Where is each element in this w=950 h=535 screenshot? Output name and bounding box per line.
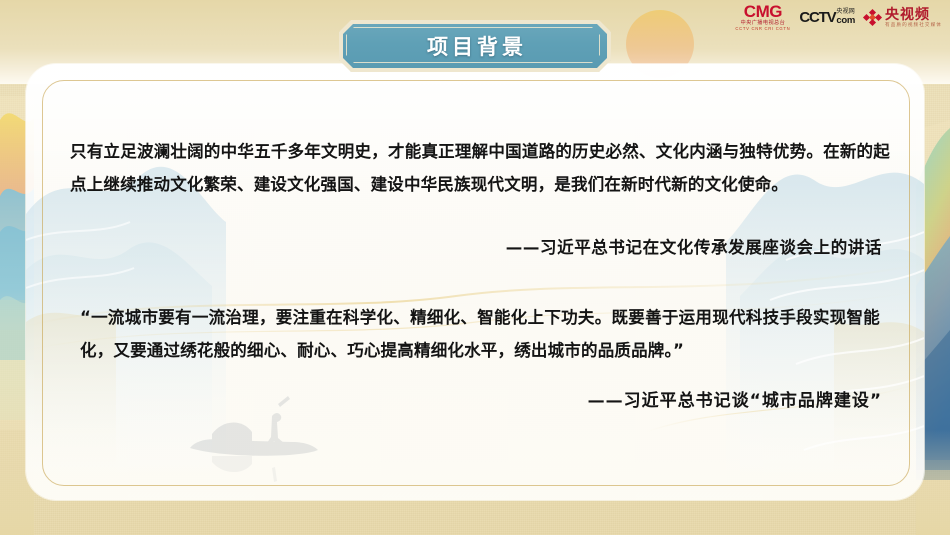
page-title: 项目背景	[339, 20, 611, 72]
cctv-wordmark: CCTV	[799, 10, 835, 25]
cmg-wordmark: CMG	[744, 3, 782, 20]
cmg-network-list: CCTV CNR CRI CGTN	[735, 27, 790, 31]
yangshipin-tagline: 有品质的视频社交媒体	[885, 23, 942, 28]
quote-paragraph-1: 只有立足波澜壮阔的中华五千多年文明史，才能真正理解中国道路的历史必然、文化内涵与…	[70, 135, 890, 201]
broadcaster-logo-bar: CMG 中央广播电视总台 CCTV CNR CRI CGTN CCTV 央视网 …	[735, 2, 942, 32]
yangshipin-text-stack: 央视频 有品质的视频社交媒体	[885, 7, 942, 28]
cmg-logo: CMG 中央广播电视总台 CCTV CNR CRI CGTN	[735, 3, 790, 32]
quote-attribution-2: ——习近平总书记谈“城市品牌建设”	[588, 386, 882, 411]
cctv-com-stack: 央视网 com	[836, 9, 855, 25]
diamond-cluster-icon	[864, 10, 881, 25]
cctv-com-logo: CCTV 央视网 com	[799, 9, 855, 25]
quote-content-area: 只有立足波澜壮阔的中华五千多年文明史，才能真正理解中国道路的历史必然、文化内涵与…	[26, 64, 924, 500]
cctv-com-text: com	[836, 16, 855, 26]
yangshipin-logo: 央视频 有品质的视频社交媒体	[864, 7, 942, 28]
slide-root: 项目背景 CMG 中央广播电视总台 CCTV CNR CRI CGTN CCTV…	[0, 0, 950, 535]
quote-attribution-1: ——习近平总书记在文化传承发展座谈会上的讲话	[506, 234, 882, 258]
cctv-logo-row: CCTV 央视网 com	[799, 9, 855, 25]
yangshipin-name: 央视频	[885, 7, 942, 21]
quote-paragraph-2: “一流城市要有一流治理，要注重在科学化、精细化、智能化上下功夫。既要善于运用现代…	[80, 301, 880, 367]
section-title-banner: 项目背景	[339, 20, 611, 72]
yangshipin-logo-row: 央视频 有品质的视频社交媒体	[864, 7, 942, 28]
